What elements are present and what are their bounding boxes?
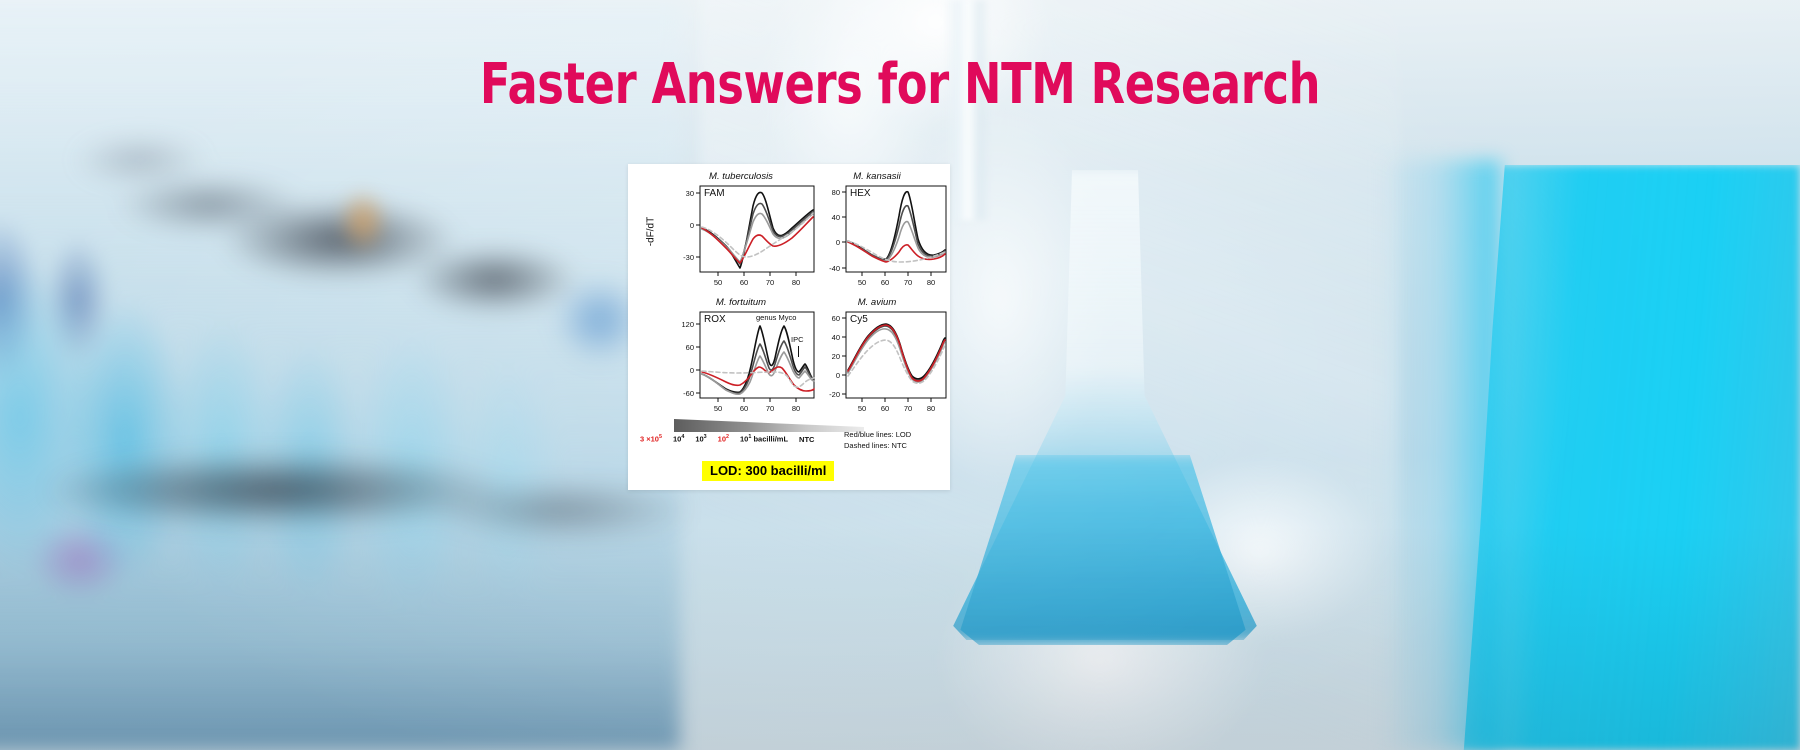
line-style-legend: Red/blue lines: LOD Dashed lines: NTC [844, 430, 911, 452]
panel-title-m-kansasii: M. kansasii [814, 171, 940, 182]
lod-highlight-banner: LOD: 300 bacilli/ml [702, 461, 834, 481]
conc-item-1e3: 103 [695, 434, 706, 444]
svg-text:80: 80 [792, 278, 800, 287]
conc-item-1e2: 102 [718, 434, 729, 444]
panel-title-m-fortuitum: M. fortuitum [666, 297, 816, 308]
svg-text:-60: -60 [683, 389, 694, 398]
channel-label-fam: FAM [704, 188, 725, 199]
channel-label-rox: ROX [704, 314, 726, 325]
svg-text:0: 0 [836, 238, 840, 247]
svg-text:70: 70 [904, 278, 912, 287]
svg-text:80: 80 [927, 278, 935, 287]
conc-item-1e4: 104 [673, 434, 684, 444]
svg-text:60: 60 [740, 404, 748, 413]
annotation-ipc-leader [798, 346, 799, 357]
svg-text:70: 70 [766, 278, 774, 287]
svg-text:-40: -40 [829, 264, 840, 273]
channel-label-hex: HEX [850, 188, 871, 199]
concentration-gradient-wedge [674, 419, 864, 432]
conc-item-ntc: NTC [799, 435, 814, 444]
conc-item-3e5: 3 ×105 [640, 434, 662, 444]
svg-text:70: 70 [766, 404, 774, 413]
legend-lod-lines: Red/blue lines: LOD [844, 430, 911, 441]
svg-text:70: 70 [904, 404, 912, 413]
panel-title-m-tuberculosis: M. tuberculosis [666, 171, 816, 182]
svg-text:30: 30 [686, 189, 694, 198]
svg-text:120: 120 [681, 320, 694, 329]
page-title: Faster Answers for NTM Research [180, 57, 1620, 113]
svg-text:40: 40 [832, 333, 840, 342]
svg-text:0: 0 [836, 371, 840, 380]
svg-text:60: 60 [740, 278, 748, 287]
svg-text:60: 60 [881, 404, 889, 413]
conc-item-1e1: 101 bacilli/mL [740, 434, 788, 444]
channel-label-cy5: Cy5 [850, 314, 868, 325]
annotation-genus-myco: genus Myco [756, 313, 796, 322]
svg-text:20: 20 [832, 352, 840, 361]
svg-text:80: 80 [792, 404, 800, 413]
svg-text:50: 50 [858, 278, 866, 287]
melt-curve-figure-card: M. tuberculosis M. kansasii M. fortuitum… [628, 164, 950, 490]
svg-text:40: 40 [832, 213, 840, 222]
svg-text:0: 0 [690, 221, 694, 230]
chart-panel-hex: 80 40 0 -40 50 60 70 80 [822, 184, 948, 288]
promo-banner: Faster Answers for NTM Research M. tuber… [0, 0, 1800, 750]
svg-text:-30: -30 [683, 253, 694, 262]
y-axis-label: -dF/dT [646, 205, 657, 259]
svg-text:80: 80 [927, 404, 935, 413]
legend-ntc-lines: Dashed lines: NTC [844, 441, 911, 452]
svg-text:50: 50 [714, 278, 722, 287]
panel-title-m-avium: M. avium [814, 297, 940, 308]
chart-panel-rox: 120 60 0 -60 50 60 70 80 [674, 310, 816, 414]
svg-text:0: 0 [690, 366, 694, 375]
svg-text:-20: -20 [829, 390, 840, 399]
svg-text:60: 60 [832, 314, 840, 323]
svg-text:80: 80 [832, 188, 840, 197]
svg-text:60: 60 [881, 278, 889, 287]
chart-panel-cy5: 60 40 20 0 -20 50 60 70 80 [822, 310, 948, 414]
chart-panel-fam: 30 0 -30 50 60 70 80 [674, 184, 816, 288]
svg-text:50: 50 [714, 404, 722, 413]
annotation-ipc: IPC [791, 335, 804, 344]
svg-text:50: 50 [858, 404, 866, 413]
svg-text:60: 60 [686, 343, 694, 352]
